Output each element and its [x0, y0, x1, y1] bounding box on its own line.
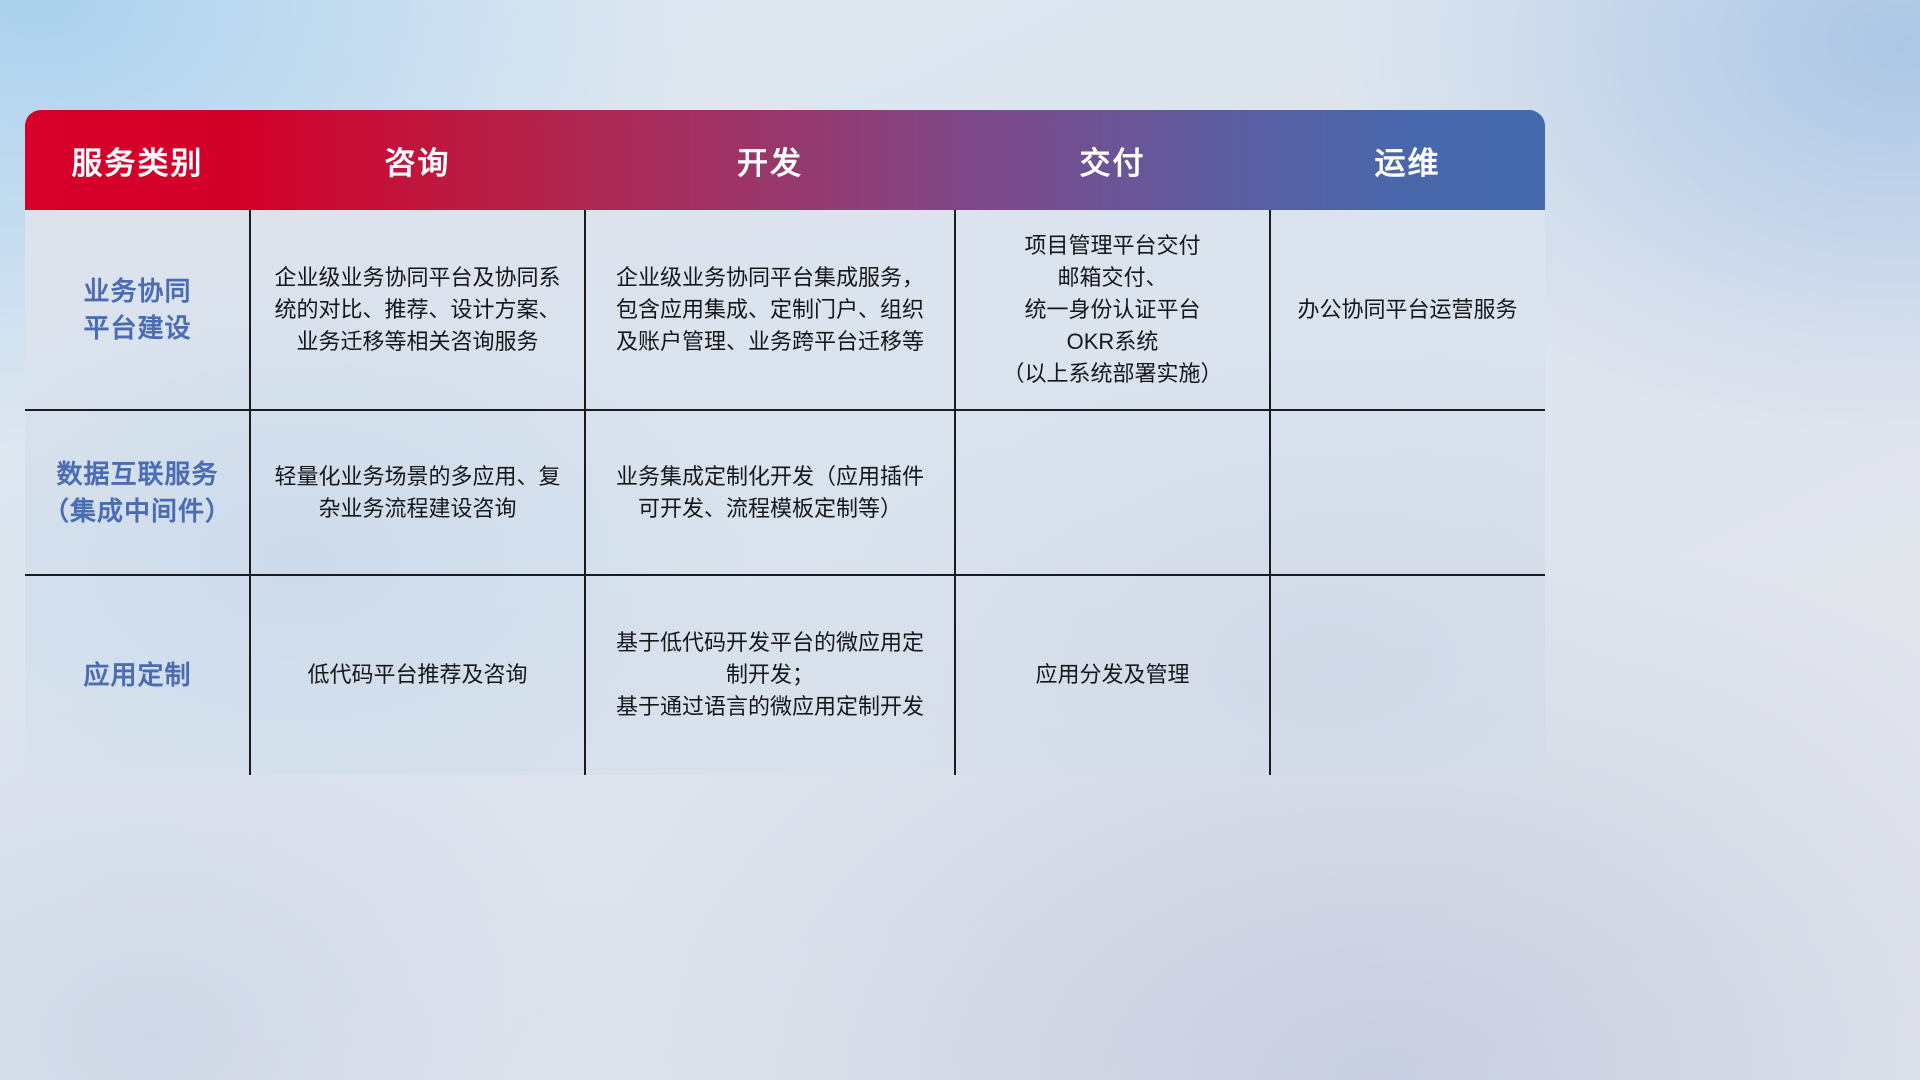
column-header-development[interactable]: 开发 [585, 138, 955, 183]
cell-text-consulting: 企业级业务协同平台及协同系 统的对比、推荐、设计方案、 业务迁移等相关咨询服务 [274, 262, 560, 358]
row-label-text: 数据互联服务 （集成中间件） [43, 456, 232, 530]
service-matrix-table: 服务类别咨询开发交付运维 业务协同 平台建设企业级业务协同平台及协同系 统的对比… [25, 110, 1545, 775]
column-header-consulting[interactable]: 咨询 [250, 138, 585, 183]
row-label-cell: 业务协同 平台建设 [25, 210, 250, 410]
column-header-operations[interactable]: 运维 [1270, 138, 1545, 183]
table-row: 业务协同 平台建设企业级业务协同平台及协同系 统的对比、推荐、设计方案、 业务迁… [25, 210, 1545, 410]
row-label-text: 业务协同 平台建设 [83, 273, 191, 347]
column-header-category[interactable]: 服务类别 [25, 138, 250, 183]
table-header-row: 服务类别咨询开发交付运维 [25, 110, 1545, 210]
cell-delivery [955, 410, 1270, 575]
cell-development: 企业级业务协同平台集成服务， 包含应用集成、定制门户、组织 及账户管理、业务跨平… [585, 210, 955, 410]
row-label-cell: 数据互联服务 （集成中间件） [25, 410, 250, 575]
column-header-delivery[interactable]: 交付 [955, 138, 1270, 183]
cell-development: 基于低代码开发平台的微应用定 制开发； 基于通过语言的微应用定制开发 [585, 575, 955, 775]
cell-text-development: 基于低代码开发平台的微应用定 制开发； 基于通过语言的微应用定制开发 [616, 627, 924, 723]
cell-consulting: 低代码平台推荐及咨询 [250, 575, 585, 775]
cell-delivery: 应用分发及管理 [955, 575, 1270, 775]
table-row: 应用定制低代码平台推荐及咨询基于低代码开发平台的微应用定 制开发； 基于通过语言… [25, 575, 1545, 775]
cell-consulting: 轻量化业务场景的多应用、复 杂业务流程建设咨询 [250, 410, 585, 575]
table-body: 业务协同 平台建设企业级业务协同平台及协同系 统的对比、推荐、设计方案、 业务迁… [25, 210, 1545, 775]
cell-delivery: 项目管理平台交付 邮箱交付、 统一身份认证平台 OKR系统 （以上系统部署实施） [955, 210, 1270, 410]
table-row: 数据互联服务 （集成中间件）轻量化业务场景的多应用、复 杂业务流程建设咨询业务集… [25, 410, 1545, 575]
cell-operations: 办公协同平台运营服务 [1270, 210, 1545, 410]
cell-development: 业务集成定制化开发（应用插件 可开发、流程模板定制等） [585, 410, 955, 575]
row-label-cell: 应用定制 [25, 575, 250, 775]
cell-text-delivery: 应用分发及管理 [1035, 659, 1189, 691]
cell-text-consulting: 低代码平台推荐及咨询 [307, 659, 527, 691]
cell-text-development: 企业级业务协同平台集成服务， 包含应用集成、定制门户、组织 及账户管理、业务跨平… [616, 262, 924, 358]
cell-consulting: 企业级业务协同平台及协同系 统的对比、推荐、设计方案、 业务迁移等相关咨询服务 [250, 210, 585, 410]
cell-operations [1270, 575, 1545, 775]
cell-text-consulting: 轻量化业务场景的多应用、复 杂业务流程建设咨询 [274, 461, 560, 525]
cell-operations [1270, 410, 1545, 575]
cell-text-development: 业务集成定制化开发（应用插件 可开发、流程模板定制等） [616, 461, 924, 525]
cell-text-operations: 办公协同平台运营服务 [1297, 294, 1517, 326]
row-label-text: 应用定制 [83, 657, 191, 694]
cell-text-delivery: 项目管理平台交付 邮箱交付、 统一身份认证平台 OKR系统 （以上系统部署实施） [1002, 230, 1222, 389]
